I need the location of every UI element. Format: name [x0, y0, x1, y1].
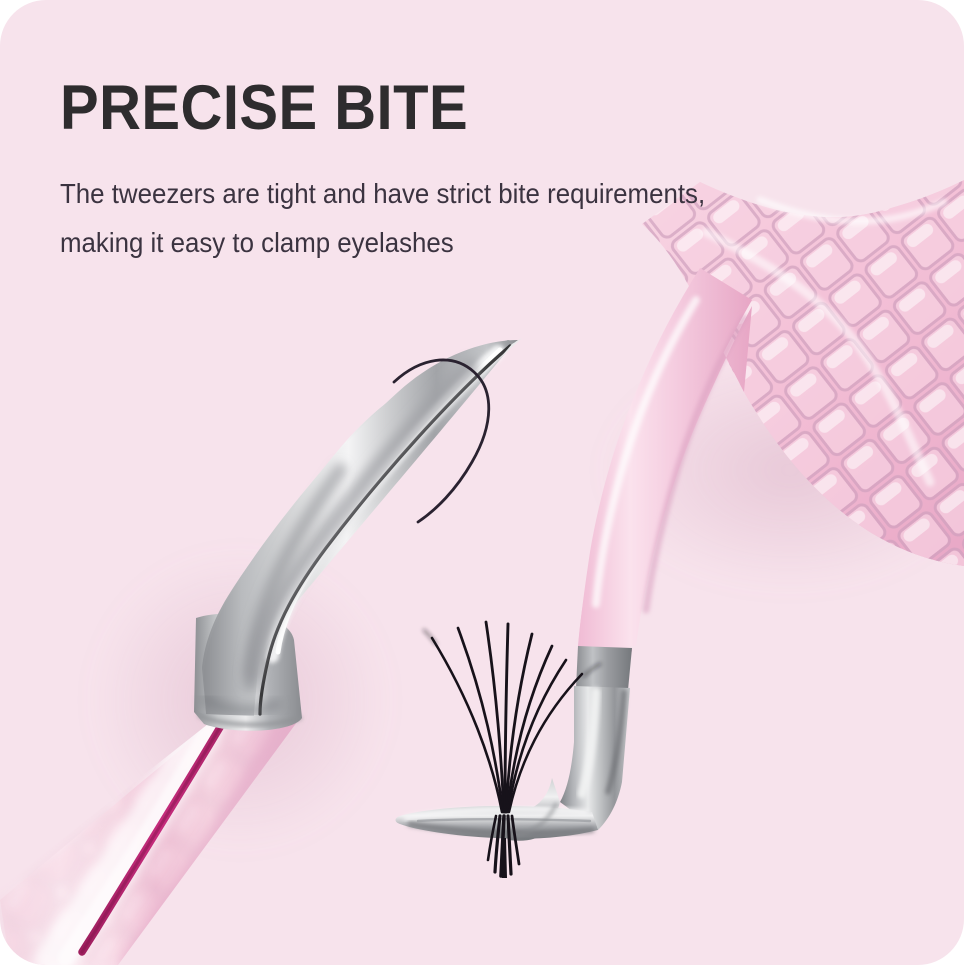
body-copy-line-1: The tweezers are tight and have strict b… [60, 170, 774, 219]
left-tweezer-fine-point [0, 338, 522, 965]
copy-block: PRECISE BITE The tweezers are tight and … [60, 76, 820, 268]
right-tweezer-boot-bend [396, 180, 964, 841]
page-title: PRECISE BITE [60, 76, 759, 140]
body-copy-line-2: making it easy to clamp eyelashes [60, 219, 774, 268]
body-copy: The tweezers are tight and have strict b… [60, 170, 774, 268]
product-feature-poster: PRECISE BITE The tweezers are tight and … [0, 0, 964, 965]
